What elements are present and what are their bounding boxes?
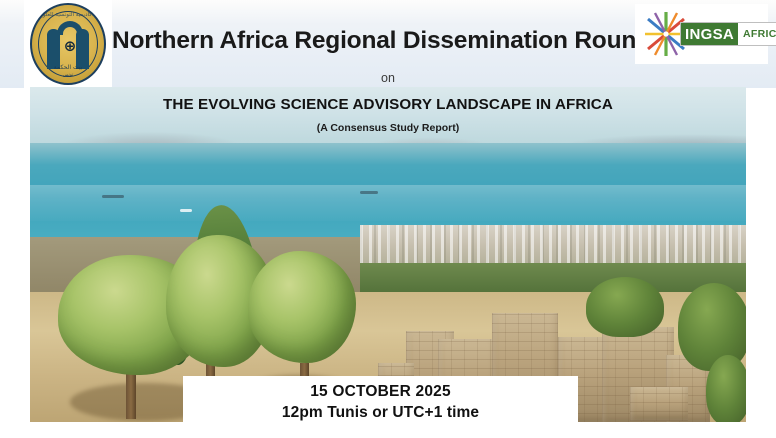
ingsa-label: INGSA xyxy=(681,23,738,45)
seal-arabic-bottom-text: بيت الحكمة xyxy=(32,64,104,71)
event-date: 15 OCTOBER 2025 xyxy=(310,383,451,401)
photo-bush xyxy=(706,355,746,422)
report-note: (A Consensus Study Report) xyxy=(0,122,776,134)
event-date-panel: 15 OCTOBER 2025 12pm Tunis or UTC+1 time xyxy=(183,376,578,429)
page-title: Northern Africa Regional Dissemination R… xyxy=(112,27,652,55)
ingsa-wordmark: INGSA AFRICA xyxy=(680,22,776,46)
event-time: 12pm Tunis or UTC+1 time xyxy=(282,404,479,422)
event-poster: الأكاديمية التونسية للعلوم ⊕ بيت الحكمة … xyxy=(0,0,776,438)
connector-text: on xyxy=(0,71,776,85)
ingsa-africa-logo: INGSA AFRICA xyxy=(635,4,768,64)
photo-olive-tree xyxy=(248,251,356,363)
photo-bush xyxy=(586,277,664,337)
photo-boat xyxy=(102,195,124,198)
seal-arabic-top-text: الأكاديمية التونسية للعلوم xyxy=(32,12,104,18)
photo-boat xyxy=(180,209,192,212)
photo-boat xyxy=(360,191,378,194)
page-subtitle: THE EVOLVING SCIENCE ADVISORY LANDSCAPE … xyxy=(0,96,776,113)
carthage-ruins-photo xyxy=(30,87,746,422)
photo-ruin-block xyxy=(630,387,688,421)
seal-center-glyph: ⊕ xyxy=(59,35,81,57)
photo-sea-shimmer xyxy=(30,185,746,221)
africa-label: AFRICA xyxy=(738,23,776,45)
